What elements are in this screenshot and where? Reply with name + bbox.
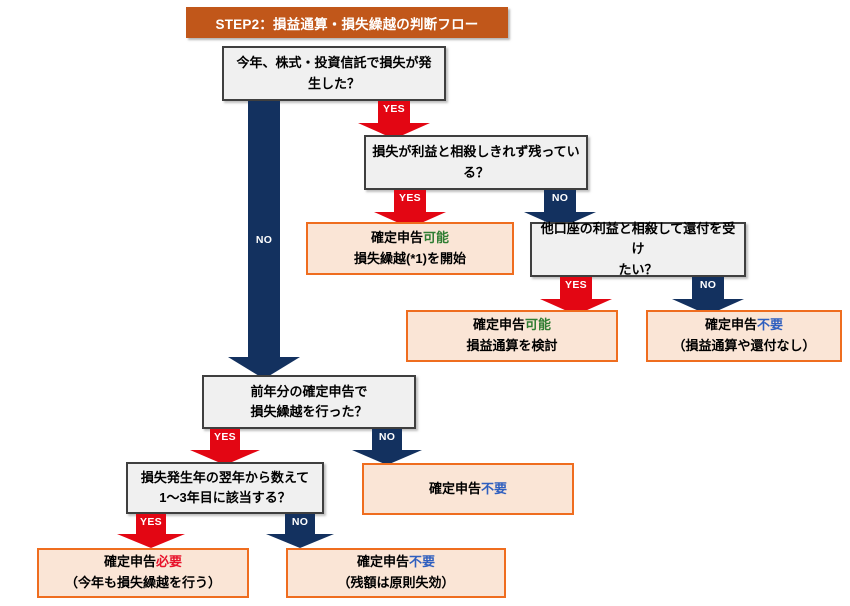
result-r3-line2: （損益通算や還付なし） [672,336,815,357]
question-box-q4: 前年分の確定申告で 損失繰越を行った？ [202,375,416,429]
question-box-q1: 今年、株式・投資信託で損失が発 生した？ [222,46,446,101]
question-q2-line1: 損失が利益と相殺しきれず残ってい [372,142,579,162]
result-r4-line1: 確定申告不要 [429,479,507,500]
arrow-label-yes: YES [214,431,236,443]
question-q3-line2: たい？ [618,260,657,280]
flowchart-canvas: STEP2：損益通算・損失繰越の判断フロー 今年、株式・投資信託で損失が発 生し… [0,0,850,606]
result-r2-line1: 確定申告可能 [473,315,551,336]
arrow-label-yes: YES [383,103,405,115]
question-q5-line1: 損失発生年の翌年から数えて [141,468,309,488]
result-r6-line2: （残額は原則失効） [337,573,454,594]
result-r4-emphasis: 不要 [481,481,507,496]
result-r3-emphasis: 不要 [757,317,783,332]
result-r3-prefix: 確定申告 [705,317,757,332]
arrow-label-no: NO [292,516,308,528]
arrow-yes-q4-to-q5: YES [190,429,260,465]
result-r1-line1: 確定申告可能 [371,228,449,249]
result-box-r2: 確定申告可能 損益通算を検討 [406,310,618,362]
question-q5-line2: 1〜3年目に該当する？ [159,488,290,508]
arrow-yes-q1-to-q2: YES [358,101,430,139]
arrow-label-yes: YES [399,192,421,204]
result-r2-emphasis: 可能 [525,317,551,332]
result-r6-emphasis: 不要 [409,554,435,569]
arrow-label-no: NO [379,431,395,443]
result-r1-emphasis: 可能 [423,230,449,245]
question-q4-line2: 損失繰越を行った？ [250,402,367,422]
question-q3-line1: 他口座の利益と相殺して還付を受け [538,219,738,259]
result-r2-line2: 損益通算を検討 [466,336,557,357]
question-q4-line1: 前年分の確定申告で [250,382,367,402]
result-r4-prefix: 確定申告 [429,481,481,496]
result-r2-prefix: 確定申告 [473,317,525,332]
arrow-no-q1-to-q4: NO [228,101,300,379]
arrow-label-no: NO [552,192,568,204]
question-q1-line2: 生した？ [308,74,360,94]
page-title: STEP2：損益通算・損失繰越の判断フロー [186,7,508,38]
result-r6-line1: 確定申告不要 [357,552,435,573]
result-r5-line1: 確定申告必要 [104,552,182,573]
result-r1-line2: 損失繰越(*1)を開始 [354,249,466,270]
result-box-r6: 確定申告不要 （残額は原則失効） [286,548,506,598]
question-box-q2: 損失が利益と相殺しきれず残ってい る？ [364,135,588,190]
arrow-no-q5-to-r6: NO [266,514,334,548]
result-box-r3: 確定申告不要 （損益通算や還付なし） [646,310,842,362]
arrow-label-yes: YES [140,516,162,528]
result-r6-prefix: 確定申告 [357,554,409,569]
result-r5-emphasis: 必要 [156,554,182,569]
question-box-q3: 他口座の利益と相殺して還付を受け たい？ [530,222,746,277]
result-box-r4: 確定申告不要 [362,463,574,515]
result-r1-prefix: 確定申告 [371,230,423,245]
arrow-no-q4-to-r4: NO [352,429,422,465]
arrow-yes-q5-to-r5: YES [117,514,185,548]
result-r3-line1: 確定申告不要 [705,315,783,336]
result-r5-prefix: 確定申告 [104,554,156,569]
question-box-q5: 損失発生年の翌年から数えて 1〜3年目に該当する？ [126,462,324,514]
arrow-label-yes: YES [565,279,587,291]
result-r5-line2: （今年も損失繰越を行う） [65,573,221,594]
result-box-r5: 確定申告必要 （今年も損失繰越を行う） [37,548,249,598]
arrow-label-no: NO [256,234,272,246]
question-q1-line1: 今年、株式・投資信託で損失が発 [236,53,431,73]
arrow-label-no: NO [700,279,716,291]
question-q2-line2: る？ [463,163,489,183]
result-box-r1: 確定申告可能 損失繰越(*1)を開始 [306,222,514,275]
